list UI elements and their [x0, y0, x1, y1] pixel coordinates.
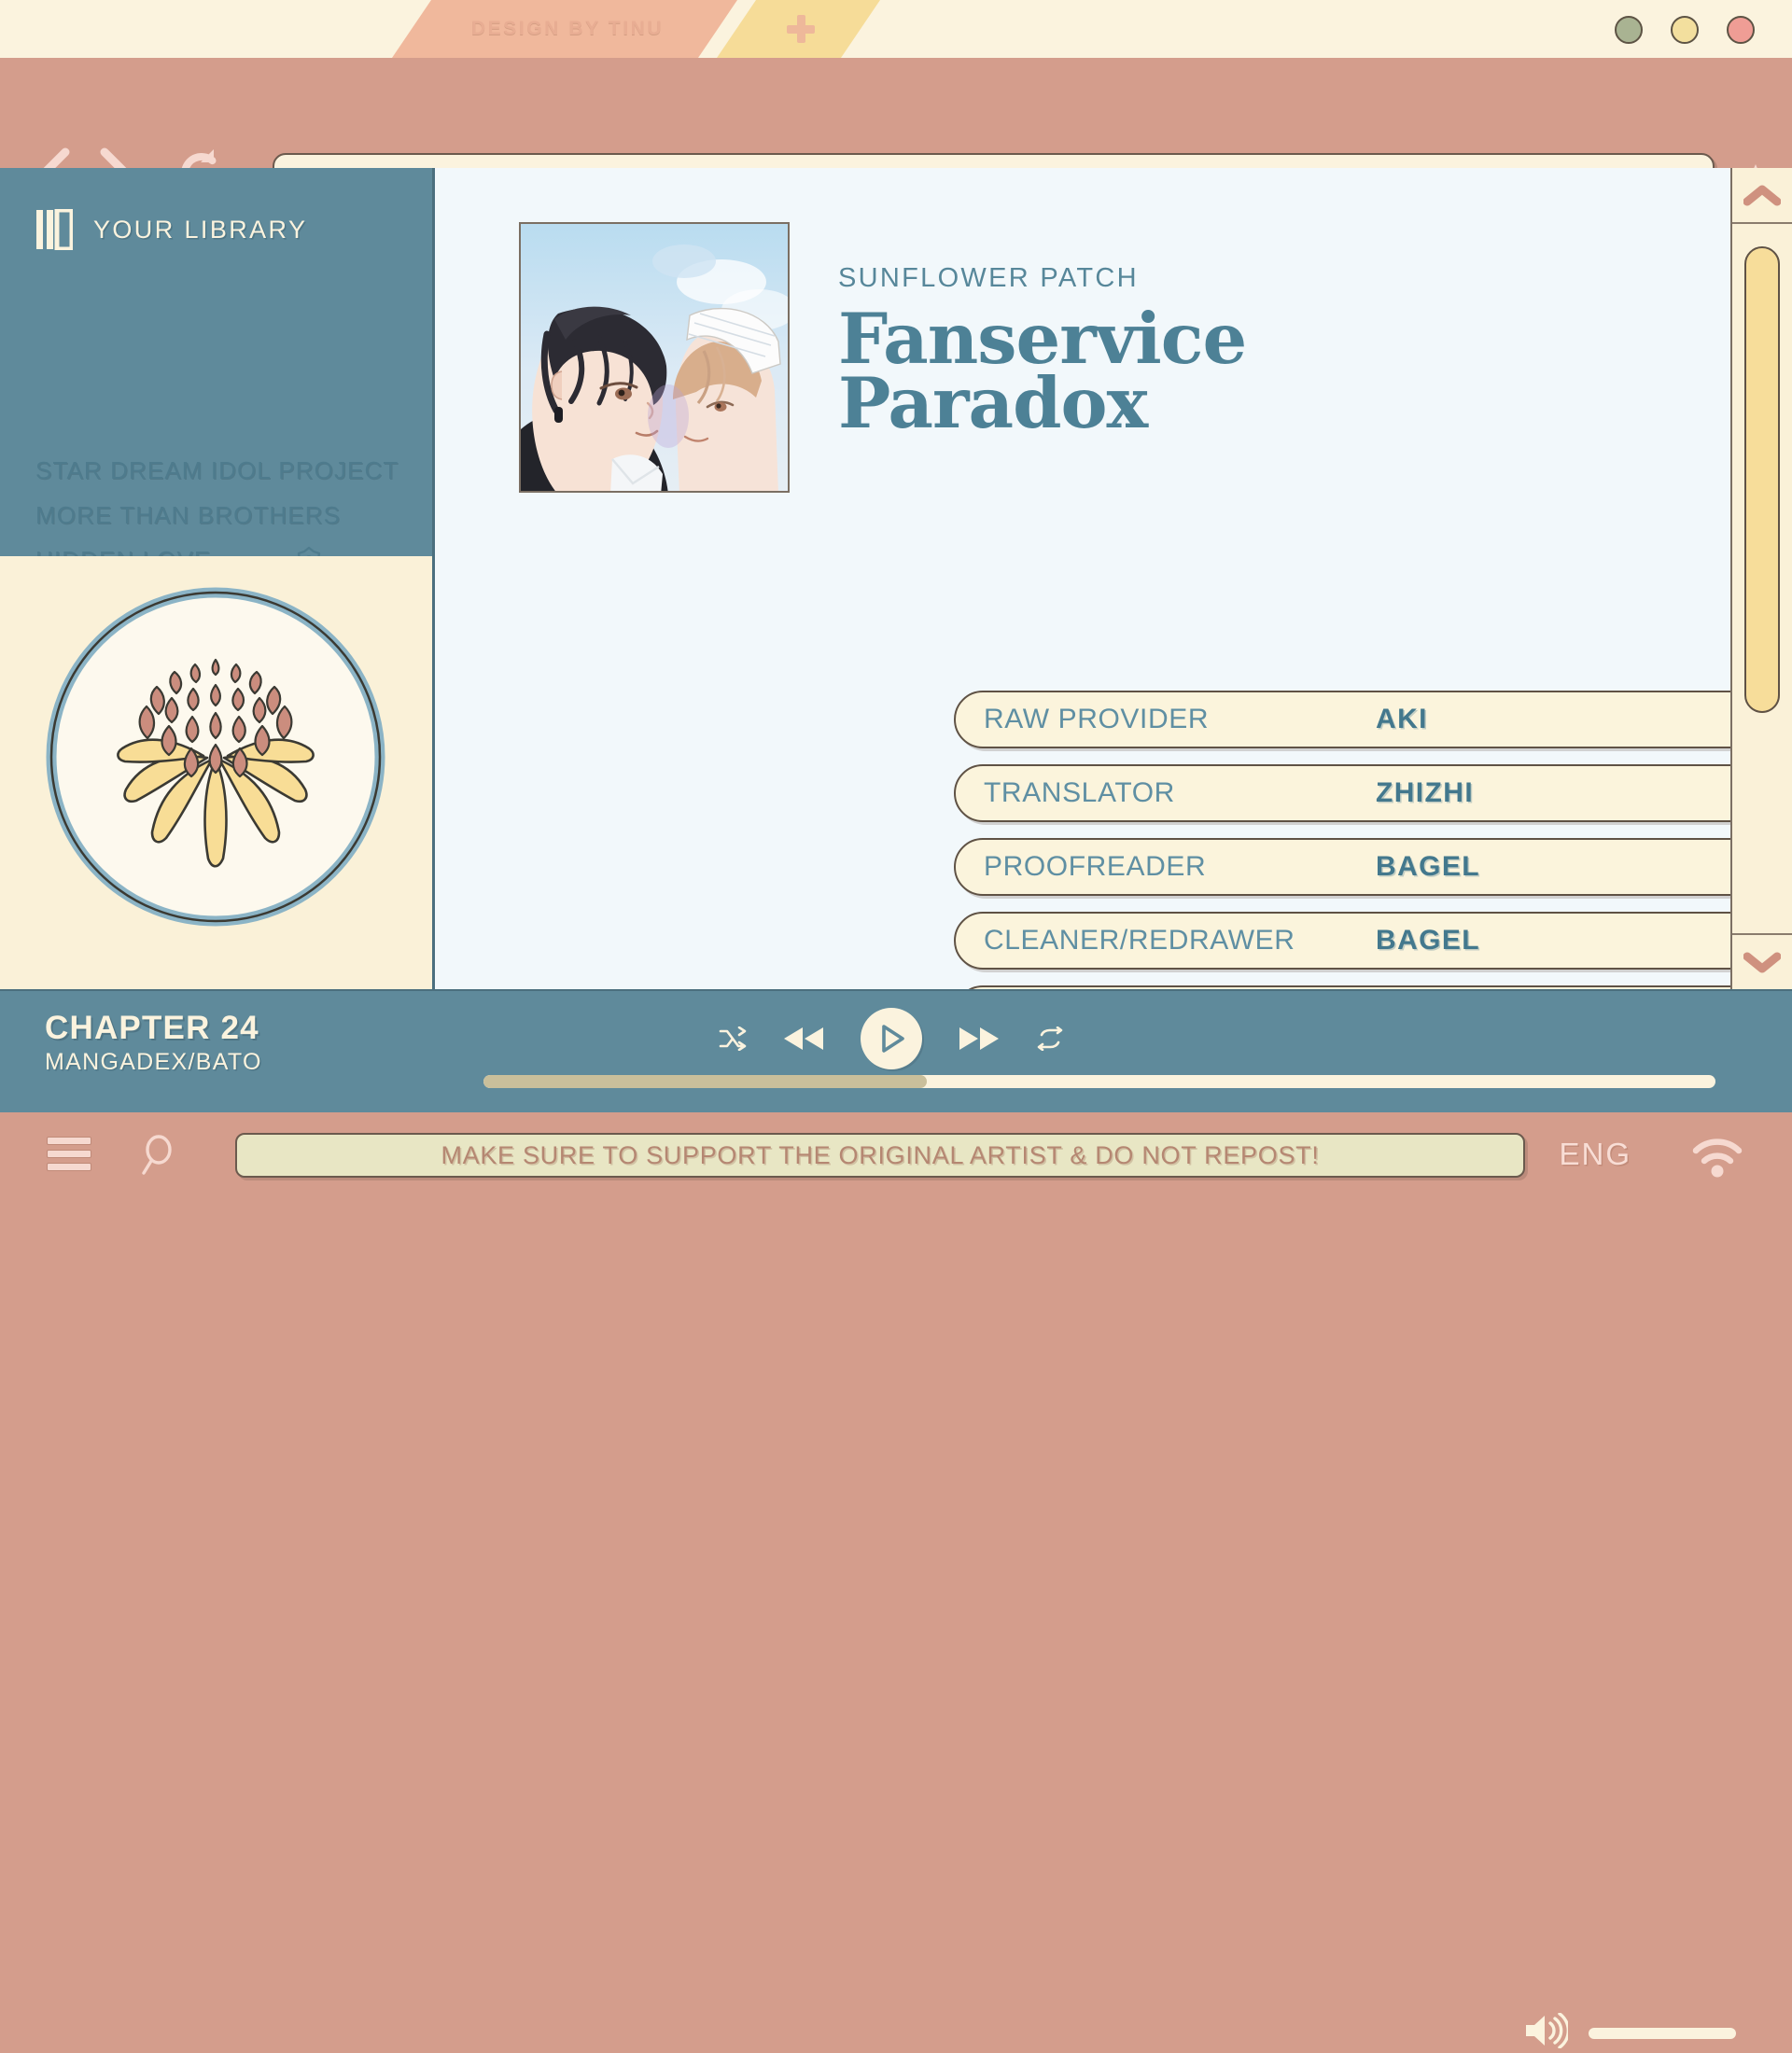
player-bar: CHAPTER 24 MANGADEX/BATO	[0, 989, 1792, 1112]
chapter-title: CHAPTER 24	[45, 1010, 262, 1047]
play-icon	[875, 1023, 907, 1054]
hamburger-icon[interactable]	[47, 1137, 91, 1172]
credit-role: CLEANER/REDRAWER	[984, 925, 1376, 957]
next-button[interactable]	[958, 1025, 1001, 1053]
banner-text: MAKE SURE TO SUPPORT THE ORIGINAL ARTIST…	[441, 1141, 1319, 1170]
scroll-down-button[interactable]	[1732, 933, 1792, 989]
credit-name: BAGEL	[1376, 925, 1480, 957]
minimize-button[interactable]	[1615, 16, 1643, 44]
credit-role: PROOFREADER	[984, 851, 1376, 883]
chapter-source: MANGADEX/BATO	[45, 1049, 262, 1076]
title-line-2: Paradox	[838, 362, 1147, 444]
browser-tab-active[interactable]: DESIGN BY TINU	[392, 0, 737, 58]
transport-controls	[719, 1008, 1064, 1069]
library-header: YOUR LIBRARY	[35, 209, 307, 250]
volume-control	[1523, 2013, 1736, 2053]
progress-bar[interactable]	[483, 1075, 1715, 1088]
page-title: Fanservice Paradox	[838, 307, 1246, 436]
title-bar: DESIGN BY TINU	[0, 0, 1792, 58]
maximize-button[interactable]	[1671, 16, 1699, 44]
credit-row: TRANSLATOR ZHIZHI	[954, 764, 1792, 822]
vertical-scrollbar[interactable]	[1730, 168, 1792, 989]
credit-name: AKI	[1376, 704, 1428, 735]
tab-label: DESIGN BY TINU	[471, 18, 664, 40]
close-button[interactable]	[1727, 16, 1755, 44]
repeat-button[interactable]	[1036, 1026, 1064, 1051]
sidebar-item[interactable]: MORE THAN BROTHERS	[35, 493, 409, 538]
wifi-icon[interactable]	[1691, 1137, 1743, 1178]
play-button[interactable]	[861, 1008, 922, 1069]
credit-name: BAGEL	[1376, 851, 1480, 883]
window-controls	[1615, 16, 1755, 44]
credit-role: RAW PROVIDER	[984, 704, 1376, 735]
credit-name: ZHIZHI	[1376, 777, 1474, 809]
scrollbar-track[interactable]	[1732, 222, 1792, 935]
logo-panel	[0, 556, 432, 989]
content-area: YOUR LIBRARY STAR DREAM IDOL PROJECT MOR…	[0, 168, 1792, 989]
scroll-up-button[interactable]	[1732, 168, 1792, 224]
status-bar: MAKE SURE TO SUPPORT THE ORIGINAL ARTIST…	[0, 1112, 1792, 1194]
navigation-bar: discord.gg/erG2zffq5G	[0, 58, 1792, 168]
search-icon[interactable]	[138, 1133, 181, 1176]
new-tab-button[interactable]	[717, 0, 880, 58]
library-title: YOUR LIBRARY	[93, 216, 307, 244]
volume-slider[interactable]	[1589, 2028, 1736, 2039]
credit-role: TRANSLATOR	[984, 777, 1376, 809]
main-panel: SUNFLOWER PATCH Fanservice Paradox RAW P…	[435, 168, 1730, 989]
chapter-info: CHAPTER 24 MANGADEX/BATO	[45, 1010, 262, 1076]
volume-icon[interactable]	[1523, 2013, 1568, 2053]
progress-fill	[483, 1075, 927, 1088]
sidebar: YOUR LIBRARY STAR DREAM IDOL PROJECT MOR…	[0, 168, 435, 989]
series-cover-art	[519, 222, 790, 493]
credit-row: RAW PROVIDER AKI	[954, 691, 1792, 748]
language-indicator[interactable]: ENG	[1559, 1137, 1631, 1172]
scrollbar-thumb[interactable]	[1744, 246, 1780, 713]
sunflower-logo	[43, 584, 388, 929]
credit-row: CLEANER/REDRAWER BAGEL	[954, 912, 1792, 970]
previous-button[interactable]	[782, 1025, 825, 1053]
sidebar-item-label: MORE THAN BROTHERS	[35, 501, 341, 530]
sidebar-item-label: STAR DREAM IDOL PROJECT	[35, 456, 399, 485]
support-banner: MAKE SURE TO SUPPORT THE ORIGINAL ARTIST…	[235, 1133, 1525, 1178]
series-meta: SUNFLOWER PATCH Fanservice Paradox	[838, 222, 1246, 436]
shuffle-button[interactable]	[719, 1026, 747, 1051]
series-brand: SUNFLOWER PATCH	[838, 263, 1246, 294]
sidebar-item[interactable]: STAR DREAM IDOL PROJECT	[35, 448, 409, 493]
plus-icon	[787, 15, 815, 43]
series-header: SUNFLOWER PATCH Fanservice Paradox	[519, 222, 1246, 493]
credit-row: PROOFREADER BAGEL	[954, 838, 1792, 896]
browser-window: DESIGN BY TINU dis	[0, 0, 1792, 1194]
library-icon	[35, 209, 73, 250]
